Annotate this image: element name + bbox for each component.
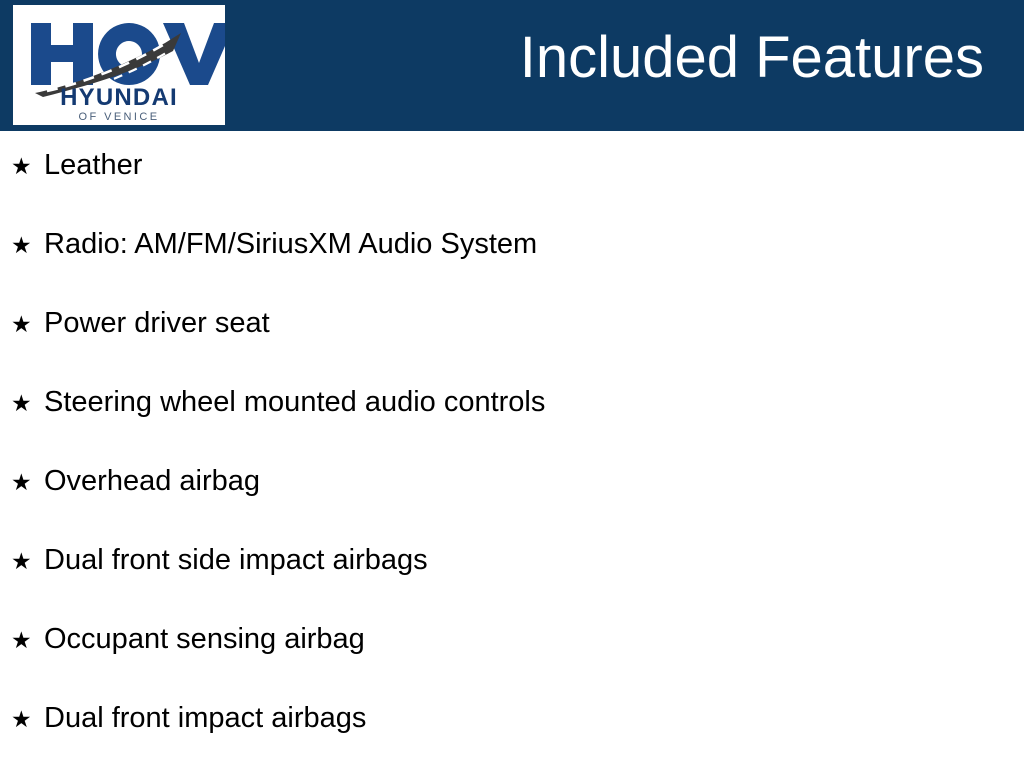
star-bullet-icon: ★ <box>11 472 44 495</box>
feature-label: Steering wheel mounted audio controls <box>44 388 545 417</box>
feature-label: Occupant sensing airbag <box>44 625 365 654</box>
list-item: ★ Radio: AM/FM/SiriusXM Audio System <box>11 230 537 270</box>
feature-label: Overhead airbag <box>44 467 260 496</box>
list-item: ★ Steering wheel mounted audio controls <box>11 388 545 428</box>
list-item: ★ Overhead airbag <box>11 467 260 507</box>
star-bullet-icon: ★ <box>11 393 44 416</box>
slide-header: HYUNDAI OF VENICE Included Features <box>0 0 1024 131</box>
star-bullet-icon: ★ <box>11 551 44 574</box>
feature-label: Leather <box>44 151 142 180</box>
page-title: Included Features <box>520 26 984 90</box>
feature-label: Radio: AM/FM/SiriusXM Audio System <box>44 230 537 259</box>
list-item: ★ Dual front side impact airbags <box>11 546 428 586</box>
feature-label: Dual front impact airbags <box>44 704 366 733</box>
list-item: ★ Leather <box>11 151 142 191</box>
list-item: ★ Power driver seat <box>11 309 270 349</box>
list-item: ★ Dual front impact airbags <box>11 704 366 744</box>
logo-artwork: HYUNDAI OF VENICE <box>13 5 225 125</box>
star-bullet-icon: ★ <box>11 630 44 653</box>
star-bullet-icon: ★ <box>11 156 44 179</box>
star-bullet-icon: ★ <box>11 709 44 732</box>
feature-label: Dual front side impact airbags <box>44 546 428 575</box>
star-bullet-icon: ★ <box>11 314 44 337</box>
list-item: ★ Occupant sensing airbag <box>11 625 365 665</box>
hov-hyundai-of-venice-logo-icon: HYUNDAI OF VENICE <box>13 5 225 125</box>
logo-location-text: OF VENICE <box>79 111 160 123</box>
dealership-logo: HYUNDAI OF VENICE <box>13 5 225 125</box>
feature-label: Power driver seat <box>44 309 270 338</box>
included-features-list: ★ Leather ★ Radio: AM/FM/SiriusXM Audio … <box>0 131 1024 768</box>
star-bullet-icon: ★ <box>11 235 44 258</box>
logo-brand-text: HYUNDAI <box>60 84 178 111</box>
